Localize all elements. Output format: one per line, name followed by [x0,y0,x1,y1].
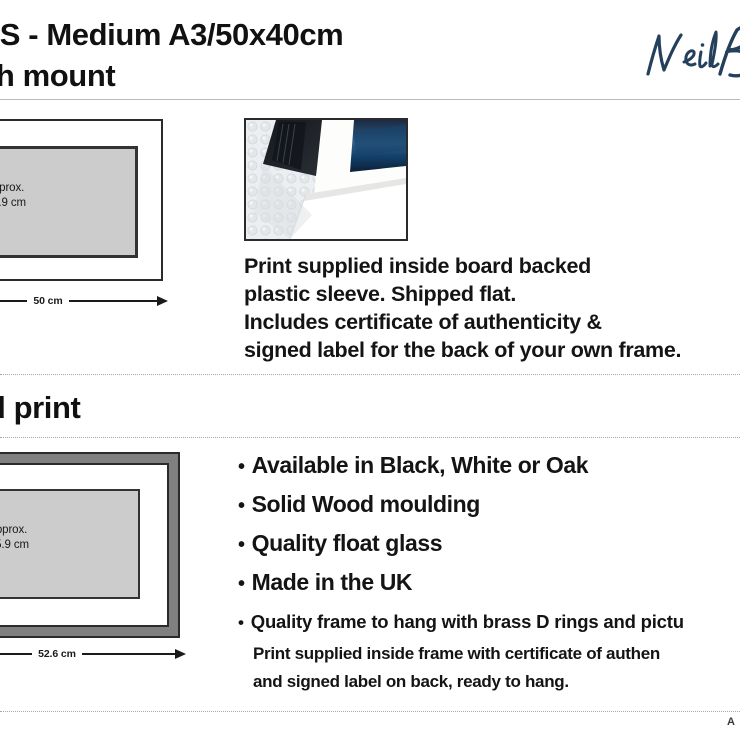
page-title: ONS - Medium A3/50x40cm with mount [0,14,574,96]
framed-mount-area: Image approx. 38.9 x 25.9 cm [0,463,169,627]
feature-list-item-label: Solid Wood moulding [252,486,480,523]
signature-icon [640,22,740,84]
bullet-icon: • [238,449,245,486]
divider-header [0,99,740,100]
feature-list-item: •Quality frame to hang with brass D ring… [238,603,740,641]
framed-print-heading: ed print [0,388,330,428]
feature-list-item-label: Made in the UK [252,564,413,601]
framed-diagram: Image approx. 38.9 x 25.9 cm [0,452,180,638]
feature-list-item: •Made in the UK [238,564,740,603]
frame-supply-note: Print supplied inside frame with certifi… [253,640,740,696]
divider-framed-top [0,374,740,375]
mount-dimension-label: 50 cm [27,295,68,307]
dimension-line-left [0,653,32,655]
arrow-right-icon [175,649,186,659]
feature-list-item: •Solid Wood moulding [238,486,740,525]
page-mark: A [727,716,735,728]
frame-dimension-label: 52.6 cm [32,648,82,660]
dimension-line-right [69,300,158,302]
bullet-icon: • [238,566,245,603]
feature-list-item-label: Quality float glass [252,525,443,562]
feature-list-item-label: Quality frame to hang with brass D rings… [251,603,684,640]
feature-list-item: •Available in Black, White or Oak [238,447,740,486]
feature-list-item-label: Available in Black, White or Oak [252,447,589,484]
mount-supply-note: Print supplied inside board backed plast… [244,252,740,364]
dimension-line-right [82,653,176,655]
divider-framed-bottom [0,437,740,438]
frame-feature-list: •Available in Black, White or Oak•Solid … [238,447,740,641]
feature-list-item: •Quality float glass [238,525,740,564]
bullet-icon: • [238,604,244,641]
mounted-print-photo [244,118,408,241]
bullet-icon: • [238,527,245,564]
mount-image-caption: Image approx. 38.9 x 25.9 cm [0,181,26,211]
bullet-icon: • [238,488,245,525]
mount-image-area: Image approx. 38.9 x 25.9 cm [0,146,138,258]
framed-image-caption: Image approx. 38.9 x 25.9 cm [0,523,29,553]
photo-illustration [246,120,406,239]
divider-footer [0,711,740,712]
mount-diagram: Image approx. 38.9 x 25.9 cm [0,119,163,281]
arrow-right-icon [157,296,168,306]
mount-width-dimension: 50 cm [0,294,168,308]
framed-image-area: Image approx. 38.9 x 25.9 cm [0,489,140,599]
frame-width-dimension: 52.6 cm [0,647,186,661]
dimension-line-left [0,300,27,302]
neil-b-signature-logo: N [640,22,740,84]
